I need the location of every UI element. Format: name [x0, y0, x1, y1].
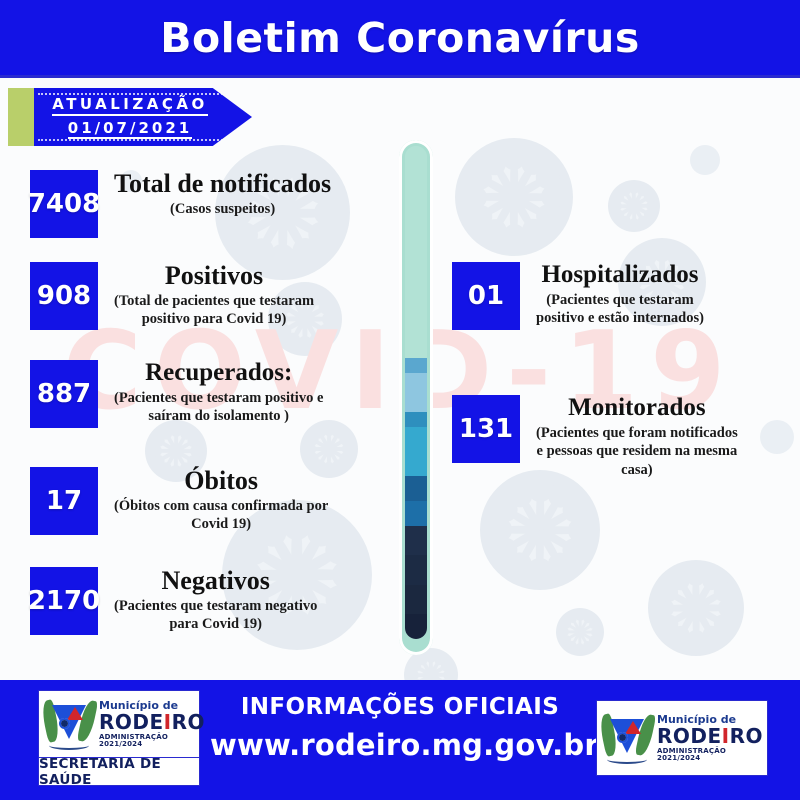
virus-spike: [633, 196, 650, 208]
stat-title: Positivos: [114, 262, 314, 289]
stat-text: Recuperados: (Pacientes que testaram pos…: [114, 360, 323, 426]
stat-monitorados: 131 Monitorados (Pacientes que foram not…: [452, 395, 738, 479]
virus-spike: [693, 608, 700, 641]
thermometer-segment: [405, 373, 427, 412]
virus-spike: [512, 193, 551, 220]
virus-spike: [579, 631, 590, 647]
virus-spike: [693, 606, 715, 638]
stat-value-box: 7408: [30, 170, 98, 238]
virus-spike: [536, 489, 544, 530]
virus-icon: [648, 560, 744, 656]
dashed-line-top: [38, 93, 230, 95]
virus-spike: [311, 447, 330, 460]
stat-recuperados: 887 Recuperados: (Pacientes que testaram…: [30, 360, 323, 428]
footer-website-url[interactable]: www.rodeiro.mg.gov.br: [210, 728, 590, 762]
virus-spike: [174, 430, 178, 451]
stat-value-box: 2170: [30, 567, 98, 635]
virus-spike: [538, 526, 578, 554]
virus-spike: [490, 160, 517, 199]
virus-spike: [632, 205, 644, 222]
virus-spike: [624, 190, 636, 207]
logo-municipio-rodeiro: Município de RODEIRO ADMINISTRAÇÃO 2021/…: [596, 700, 768, 776]
virus-spike: [540, 526, 581, 534]
stat-positivos: 908 Positivos (Total de pacientes que te…: [30, 262, 314, 330]
virus-spike: [329, 447, 349, 451]
stat-subtitle: (Total de pacientes que testarampositivo…: [114, 292, 314, 328]
update-banner-arrow: ATUALIZAÇÃO 01/07/2021: [34, 88, 252, 146]
virus-spike: [317, 448, 330, 467]
virus-spike: [512, 173, 551, 200]
virus-spike: [499, 526, 540, 534]
virus-spike: [565, 631, 581, 642]
logo-wordmark: Município de RODEIRO ADMINISTRAÇÃO 2021/…: [657, 714, 763, 762]
virus-spike: [311, 437, 330, 450]
virus-spike: [632, 190, 644, 207]
virus-spike: [580, 630, 596, 633]
logo-content: Município de RODEIRO ADMINISTRAÇÃO 2021/…: [39, 691, 199, 757]
virus-spike: [564, 630, 580, 633]
virus-spike: [579, 622, 595, 633]
stat-value: 01: [468, 281, 504, 311]
stat-title: Hospitalizados: [536, 262, 704, 288]
coat-of-arms-icon: [601, 710, 653, 766]
virus-spike: [510, 197, 518, 237]
stat-title: Óbitos: [114, 467, 328, 494]
crest-base-icon: [607, 755, 647, 764]
virus-spike: [413, 673, 431, 677]
virus-spike: [510, 195, 537, 234]
crest-base-icon: [49, 741, 89, 750]
logo-secretaria-saude: Município de RODEIRO ADMINISTRAÇÃO 2021/…: [38, 690, 200, 786]
footer-text: INFORMAÇÕES OFICIAIS www.rodeiro.mg.gov.…: [210, 694, 590, 762]
stat-value-box: 01: [452, 262, 520, 330]
thermometer-segment: [405, 358, 427, 373]
stat-subtitle: (Pacientes que testaram negativopara Cov…: [114, 597, 317, 633]
logo-administracao-label: ADMINISTRAÇÃO 2021/2024: [99, 734, 205, 748]
covid-bulletin-poster: COVID-19 Boletim Coronavírus ATUALIZAÇÃO…: [0, 0, 800, 800]
virus-spike: [431, 673, 449, 677]
virus-spike: [618, 204, 635, 216]
virus-spike: [157, 449, 177, 463]
virus-spike: [632, 206, 636, 224]
thermometer-segment: [405, 526, 427, 556]
virus-spike: [317, 431, 330, 450]
header-divider: [0, 75, 800, 78]
virus-spike: [328, 437, 347, 450]
logo-content: Município de RODEIRO ADMINISTRAÇÃO 2021/…: [597, 701, 767, 775]
virus-spike: [663, 605, 696, 612]
red-triangle-icon: [67, 707, 83, 720]
thermometer-segment: [405, 476, 427, 501]
stat-title: Monitorados: [536, 395, 738, 421]
thermometer-segments: [405, 146, 427, 639]
thermometer-segment: [405, 501, 427, 526]
dashed-line-bottom: [38, 139, 230, 141]
stat-text: Óbitos (Óbitos com causa confirmada porC…: [114, 467, 328, 534]
virus-spike: [328, 447, 347, 460]
virus-spike: [429, 658, 441, 676]
virus-spike: [579, 617, 590, 633]
virus-spike: [175, 439, 195, 453]
thermometer-segment: [405, 412, 427, 427]
virus-spike: [565, 622, 581, 633]
virus-spike: [503, 506, 543, 534]
stat-value-box: 17: [30, 467, 98, 535]
virus-spike: [514, 193, 554, 201]
stat-subtitle: (Pacientes que testarampositivo e estão …: [536, 291, 704, 327]
thermometer-segment: [405, 146, 427, 358]
virus-spike: [677, 606, 699, 638]
virus-spike: [176, 449, 197, 453]
virus-spike: [579, 631, 595, 642]
stat-value: 131: [459, 414, 513, 444]
virus-spike: [309, 447, 329, 451]
virus-spike: [516, 493, 544, 533]
virus-spike: [175, 449, 195, 463]
virus-spike: [155, 449, 176, 453]
virus-spike: [666, 605, 698, 627]
thermometer-segment: [405, 585, 427, 615]
stat-value: 887: [37, 379, 91, 409]
virus-spike: [624, 205, 636, 222]
update-banner-tab: [8, 88, 34, 146]
stat-notificados: 7408 Total de notificados (Casos suspeit…: [30, 170, 331, 238]
virus-spike: [477, 173, 516, 200]
stat-subtitle: (Pacientes que foram notificadose pessoa…: [536, 424, 738, 478]
virus-spike: [429, 657, 433, 675]
virus-spike: [414, 664, 432, 676]
stat-text: Hospitalizados (Pacientes que testarampo…: [536, 262, 704, 328]
stat-text: Negativos (Pacientes que testaram negati…: [114, 567, 317, 634]
star-icon: [59, 718, 70, 729]
thermometer-graphic: [399, 140, 433, 655]
virus-spike: [327, 431, 340, 450]
thermometer-segment: [405, 427, 427, 476]
virus-spike: [693, 575, 700, 608]
virus-spike: [616, 204, 634, 208]
virus-spike: [510, 160, 537, 199]
virus-spike: [430, 664, 448, 676]
star-icon: [617, 732, 628, 743]
virus-spike: [618, 196, 635, 208]
stat-value-box: 131: [452, 395, 520, 463]
virus-spike: [174, 432, 188, 452]
logo-banner: SECRETARIA DE SAÚDE: [39, 757, 199, 786]
stat-title: Total de notificados: [114, 170, 331, 197]
virus-spike: [634, 204, 652, 208]
logo-administracao-label: ADMINISTRAÇÃO 2021/2024: [657, 748, 763, 762]
virus-spike: [632, 188, 636, 206]
virus-spike: [327, 448, 340, 467]
stat-value: 908: [37, 281, 91, 311]
thermometer-segment: [405, 555, 427, 585]
update-label: ATUALIZAÇÃO: [52, 95, 208, 116]
stat-obitos: 17 Óbitos (Óbitos com causa confirmada p…: [30, 467, 328, 535]
stat-subtitle: (Pacientes que testaram positivo esaíram…: [114, 389, 323, 425]
virus-spike: [570, 617, 581, 633]
virus-spike: [536, 528, 564, 568]
stat-value-box: 908: [30, 262, 98, 330]
logo-rodeiro-label: RODEIRO: [99, 712, 205, 732]
footer-line-official: INFORMAÇÕES OFICIAIS: [210, 694, 590, 720]
header-bar: Boletim Coronavírus: [0, 0, 800, 75]
virus-spike: [696, 605, 729, 612]
virus-spike: [516, 528, 544, 568]
virus-spike: [503, 526, 543, 554]
virus-spike: [538, 506, 578, 534]
stat-text: Positivos (Total de pacientes que testar…: [114, 262, 314, 329]
virus-spike: [536, 530, 544, 571]
virus-spike: [490, 195, 517, 234]
stat-value-box: 887: [30, 360, 98, 428]
virus-spike: [578, 616, 581, 632]
stat-negativos: 2170 Negativos (Pacientes que testaram n…: [30, 567, 317, 635]
stat-value: 7408: [28, 189, 100, 219]
update-date: 01/07/2021: [68, 119, 192, 140]
secretaria-saude-label: SECRETARIA DE SAÚDE: [39, 756, 199, 788]
stat-subtitle: (Óbitos com causa confirmada porCovid 19…: [114, 497, 328, 533]
virus-dot: [690, 145, 720, 175]
thermometer-segment: [405, 614, 427, 639]
stat-title: Negativos: [114, 567, 317, 594]
virus-icon: [455, 138, 573, 256]
virus-spike: [666, 589, 698, 611]
stat-text: Monitorados (Pacientes que foram notific…: [536, 395, 738, 479]
virus-spike: [157, 439, 177, 453]
virus-dot: [760, 420, 794, 454]
stat-text: Total de notificados (Casos suspeitos): [114, 170, 331, 218]
virus-icon: [480, 470, 600, 590]
virus-spike: [677, 578, 699, 610]
virus-spike: [327, 449, 331, 469]
virus-spike: [420, 658, 432, 676]
logo-wordmark: Município de RODEIRO ADMINISTRAÇÃO 2021/…: [99, 700, 205, 748]
virus-spike: [477, 193, 516, 220]
virus-icon: [556, 608, 604, 656]
coat-of-arms-icon: [43, 696, 95, 752]
page-title: Boletim Coronavírus: [160, 14, 640, 62]
virus-spike: [327, 429, 331, 449]
virus-spike: [164, 432, 178, 452]
virus-spike: [578, 632, 581, 648]
virus-icon: [608, 180, 660, 232]
virus-spike: [570, 631, 581, 647]
virus-spike: [693, 578, 715, 610]
stat-value: 17: [46, 486, 82, 516]
stat-subtitle: (Casos suspeitos): [114, 200, 331, 218]
red-triangle-icon: [625, 721, 641, 734]
stat-title: Recuperados:: [114, 360, 323, 386]
stat-value: 2170: [28, 586, 100, 616]
update-banner: ATUALIZAÇÃO 01/07/2021: [8, 88, 252, 146]
virus-spike: [694, 589, 726, 611]
virus-spike: [510, 157, 518, 197]
stat-hospitalizados: 01 Hospitalizados (Pacientes que testara…: [452, 262, 704, 330]
logo-rodeiro-label: RODEIRO: [657, 726, 763, 746]
virus-spike: [474, 193, 514, 201]
virus-spike: [633, 204, 650, 216]
virus-spike: [536, 493, 564, 533]
virus-spike: [694, 605, 726, 627]
